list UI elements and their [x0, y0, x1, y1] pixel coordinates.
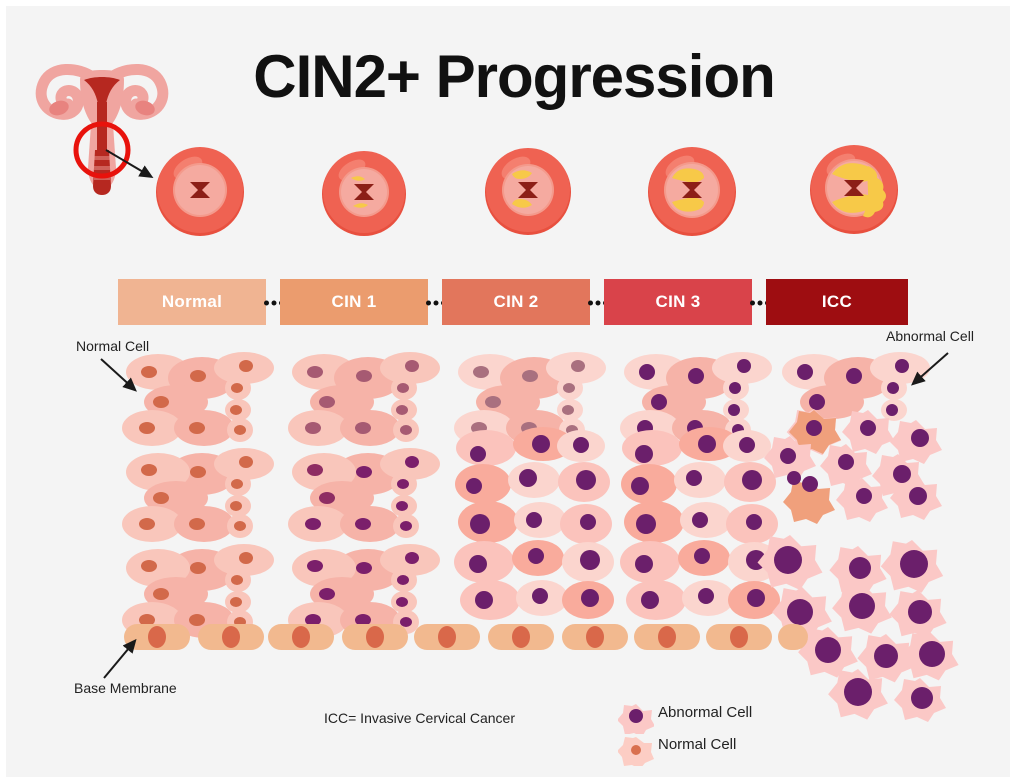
legend-item-abnormal-cell: Abnormal Cell: [618, 702, 838, 734]
normal-cell-icon: [618, 734, 654, 766]
base-membrane-cell: [268, 624, 334, 650]
base-membrane-cell: [342, 624, 408, 650]
epithelium-column-cin1: [288, 352, 440, 638]
epithelium-column-cin3: [620, 352, 780, 620]
stage-box-cin3[interactable]: CIN 3: [604, 279, 752, 325]
stage-box-icc[interactable]: ICC: [766, 279, 908, 325]
base-membrane-row: [124, 624, 808, 650]
stage-box-cin1[interactable]: CIN 1: [280, 279, 428, 325]
abnormal-cell-annotation-label: Abnormal Cell: [886, 328, 974, 344]
epithelium-panel: [6, 336, 1016, 736]
base-membrane-annotation-arrow: [102, 634, 152, 687]
base-membrane-cell: [198, 624, 264, 650]
base-membrane-cell: [562, 624, 628, 650]
stage-label: ICC: [822, 292, 852, 312]
abnormal-cell-icon: [618, 702, 654, 734]
legend-item-normal-cell: Normal Cell: [618, 734, 838, 766]
stage-label: CIN 3: [656, 292, 701, 312]
stage-progression-bar: Normal CIN 1 CIN 2: [118, 279, 908, 325]
abnormal-cell-annotation-arrow: [904, 350, 954, 400]
base-membrane-cell: [488, 624, 554, 650]
cervix-circle-icc: [808, 142, 900, 239]
base-membrane-cell: [706, 624, 772, 650]
normal-cell-annotation-label: Normal Cell: [76, 338, 149, 354]
stage-label: Normal: [162, 292, 222, 312]
epithelium-column-cin2: [454, 352, 614, 620]
stage-box-cin2[interactable]: CIN 2: [442, 279, 590, 325]
diagram-canvas: CIN2+ Progression: [0, 0, 1016, 783]
stage-label: CIN 2: [494, 292, 539, 312]
stage-label: CIN 1: [332, 292, 377, 312]
normal-cell-annotation-arrow: [98, 356, 148, 406]
cervix-circle-normal: [154, 144, 246, 241]
legend-label: Normal Cell: [658, 736, 736, 753]
base-membrane-cell: [634, 624, 700, 650]
epithelium-column-icc: [758, 352, 959, 722]
footnote-icc-definition: ICC= Invasive Cervical Cancer: [324, 710, 515, 726]
base-membrane-cell-broken: [778, 624, 808, 650]
base-membrane-cell: [414, 624, 480, 650]
stage-box-normal[interactable]: Normal: [118, 279, 266, 325]
cervix-circle-cin1: [318, 146, 410, 243]
cervix-circle-cin3: [646, 144, 738, 241]
cervix-circle-cin2: [482, 144, 574, 241]
legend-label: Abnormal Cell: [658, 704, 752, 721]
